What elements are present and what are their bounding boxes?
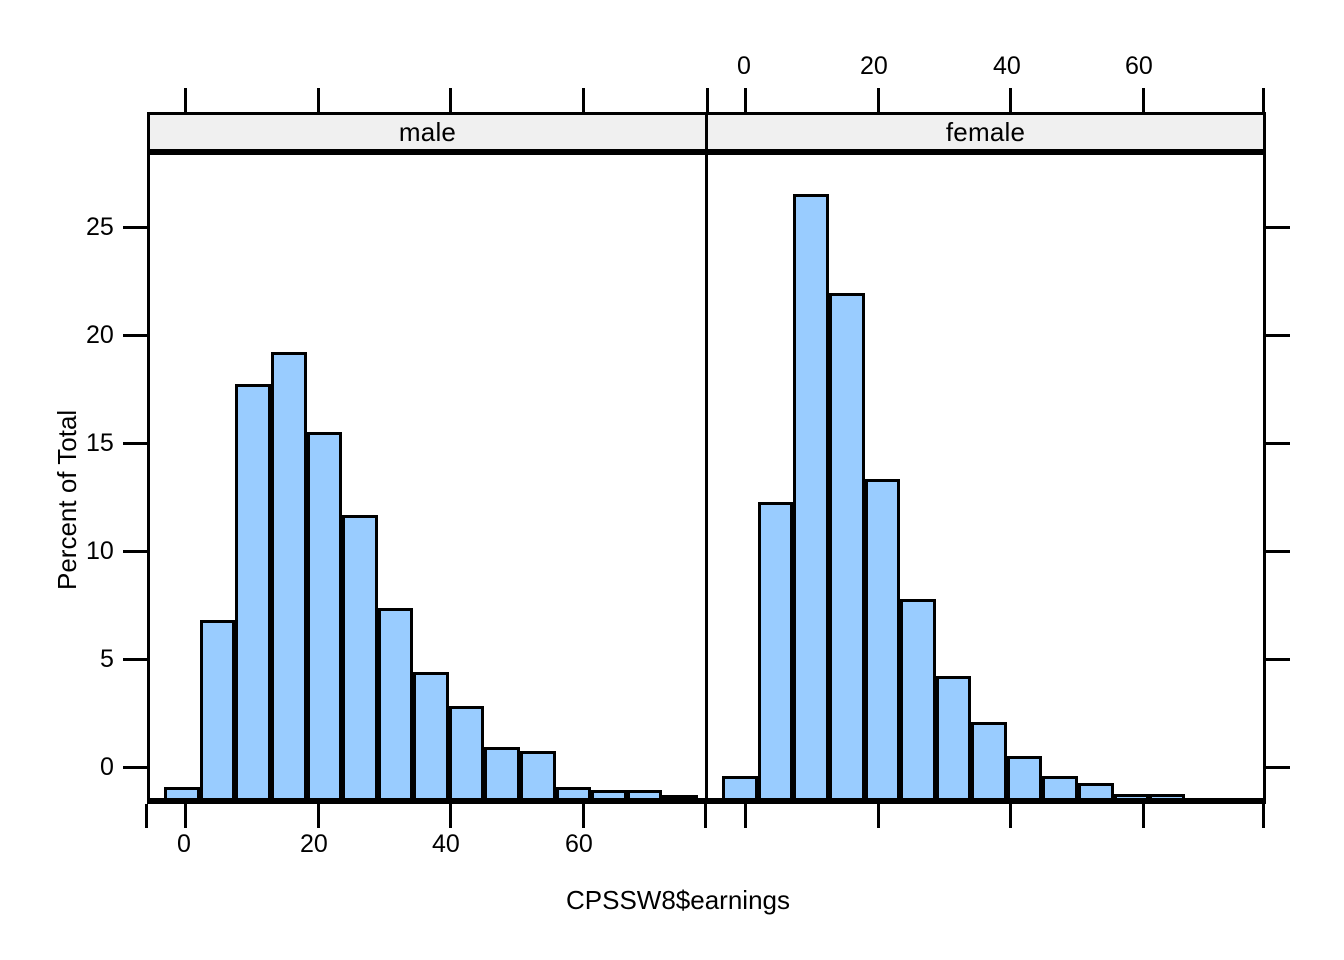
- top-tick-label-60: 60: [1125, 54, 1153, 79]
- bottom-tick-mark: [145, 804, 148, 828]
- histogram-bar: [235, 384, 271, 801]
- top-tick-mark: [449, 88, 452, 112]
- histogram-bar: [900, 599, 936, 801]
- histogram-bar: [556, 787, 592, 801]
- panel-strip-label-female: female: [946, 117, 1025, 148]
- top-tick-mark: [877, 88, 880, 112]
- bottom-tick-mark: [1262, 804, 1265, 828]
- histogram-bar: [936, 676, 972, 801]
- y-tick-label-15: 15: [86, 431, 114, 456]
- histogram-bar: [520, 751, 556, 801]
- top-tick-mark: [184, 88, 187, 112]
- y-tick-mark: [123, 226, 147, 229]
- plot-panel-male: [147, 152, 708, 804]
- histogram-bar: [378, 608, 414, 801]
- histogram-bar: [484, 747, 520, 801]
- histogram-bar: [591, 790, 627, 801]
- top-tick-mark: [744, 88, 747, 112]
- bottom-tick-mark: [1142, 804, 1145, 828]
- top-tick-mark: [1009, 88, 1012, 112]
- histogram-bar: [271, 352, 307, 801]
- histogram-bar: [200, 620, 236, 801]
- top-tick-mark: [582, 88, 585, 112]
- bottom-tick-mark: [744, 804, 747, 828]
- panel-strip-male: male: [147, 112, 708, 152]
- histogram-bar: [1114, 794, 1150, 801]
- bottom-tick-mark: [1009, 804, 1012, 828]
- top-tick-mark: [1142, 88, 1145, 112]
- y-tick-label-10: 10: [86, 539, 114, 564]
- y-tick-label-0: 0: [100, 755, 114, 780]
- histogram-bar: [829, 293, 865, 801]
- top-tick-mark: [317, 88, 320, 112]
- y-tick-mark: [123, 766, 147, 769]
- histogram-bar: [1078, 783, 1114, 801]
- histogram-bar: [662, 795, 698, 801]
- top-tick-mark: [706, 88, 709, 112]
- histogram-bar: [722, 776, 758, 801]
- bottom-tick-mark: [317, 804, 320, 828]
- y-tick-mark-right: [1266, 226, 1290, 229]
- y-tick-mark-right: [1266, 550, 1290, 553]
- histogram-bar: [1007, 756, 1043, 801]
- histogram-bar: [865, 479, 901, 801]
- histogram-bar: [413, 672, 449, 801]
- bottom-tick-mark: [184, 804, 187, 828]
- histogram-bar: [449, 706, 485, 801]
- histogram-bar: [758, 502, 794, 801]
- y-axis-title: Percent of Total: [52, 410, 83, 590]
- top-tick-label-40: 40: [993, 54, 1021, 79]
- bottom-tick-label-40: 40: [432, 832, 460, 857]
- histogram-bar: [627, 790, 663, 801]
- y-tick-mark: [123, 658, 147, 661]
- y-tick-mark: [123, 442, 147, 445]
- y-tick-mark-right: [1266, 766, 1290, 769]
- bottom-tick-mark: [877, 804, 880, 828]
- histogram-bar: [1149, 794, 1185, 801]
- y-tick-mark: [123, 334, 147, 337]
- histogram-bar: [164, 787, 200, 801]
- top-tick-label-0: 0: [737, 54, 751, 79]
- bottom-tick-mark: [582, 804, 585, 828]
- bottom-tick-mark: [704, 804, 707, 828]
- histogram-bar: [342, 515, 378, 801]
- bottom-tick-label-60: 60: [565, 832, 593, 857]
- y-tick-label-20: 20: [86, 323, 114, 348]
- panel-strip-female: female: [705, 112, 1266, 152]
- bottom-tick-label-20: 20: [300, 832, 328, 857]
- top-tick-label-20: 20: [860, 54, 888, 79]
- top-tick-mark: [1262, 88, 1265, 112]
- bottom-tick-mark: [449, 804, 452, 828]
- y-tick-mark: [123, 550, 147, 553]
- y-tick-label-25: 25: [86, 215, 114, 240]
- y-tick-mark-right: [1266, 658, 1290, 661]
- panel-strip-label-male: male: [399, 117, 456, 148]
- y-tick-mark-right: [1266, 442, 1290, 445]
- histogram-bar: [793, 194, 829, 801]
- bars-female: [708, 155, 1263, 801]
- bottom-tick-label-0: 0: [177, 832, 191, 857]
- histogram-bar: [307, 432, 343, 801]
- histogram-bar: [1042, 776, 1078, 801]
- chart-canvas: 0 20 40 60 male female 25 20 15 10 5 0: [0, 0, 1344, 960]
- y-tick-label-5: 5: [100, 647, 114, 672]
- y-tick-mark-right: [1266, 334, 1290, 337]
- histogram-bar: [971, 722, 1007, 801]
- bars-male: [150, 155, 705, 801]
- x-axis-title: CPSSW8$earnings: [566, 885, 790, 916]
- plot-panel-female: [705, 152, 1266, 804]
